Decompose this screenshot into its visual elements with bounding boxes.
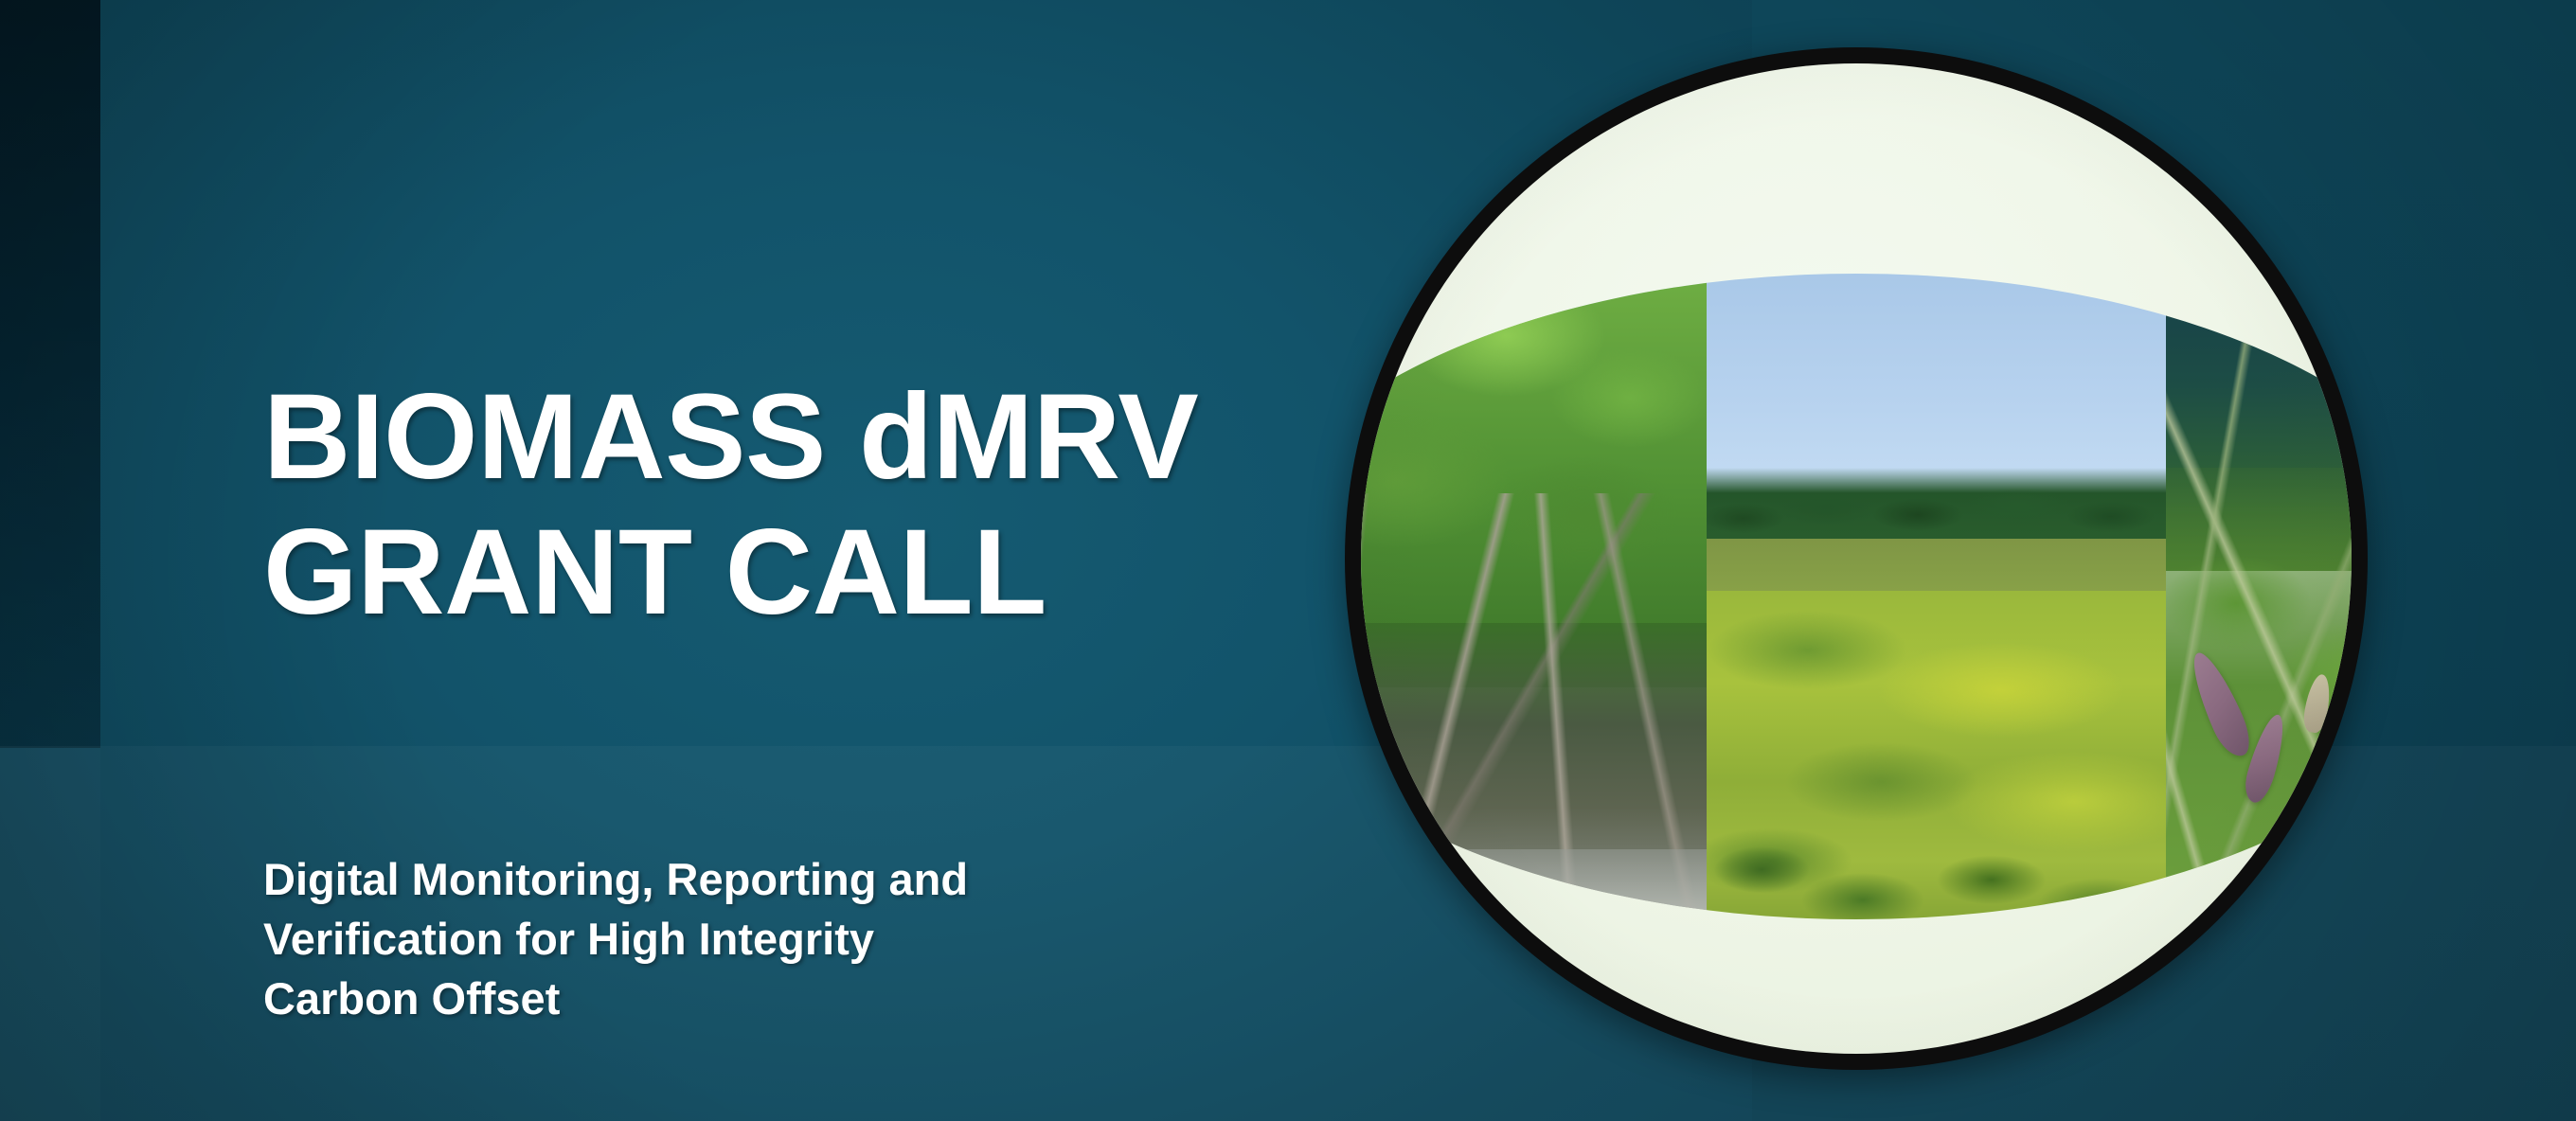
circular-collage — [1345, 47, 2368, 1070]
collage-inner-disc — [1361, 63, 2352, 1054]
headline-block: BIOMASS dMRV GRANT CALL — [263, 369, 1248, 641]
background-left-dark-band — [0, 0, 100, 748]
background-left-lower-band — [0, 746, 100, 1121]
banner: BIOMASS dMRV GRANT CALL Digital Monitori… — [0, 0, 2576, 1121]
meadow-foreground-scrub — [1707, 752, 2166, 920]
collage-photo-band — [1361, 274, 2352, 920]
meadow-strip — [1707, 274, 2166, 920]
mangrove-strip — [1361, 274, 1707, 920]
mangrove-water — [1361, 849, 1707, 920]
page-subtitle: Digital Monitoring, Reporting and Verifi… — [263, 850, 1154, 1029]
page-title: BIOMASS dMRV GRANT CALL — [263, 369, 1248, 641]
